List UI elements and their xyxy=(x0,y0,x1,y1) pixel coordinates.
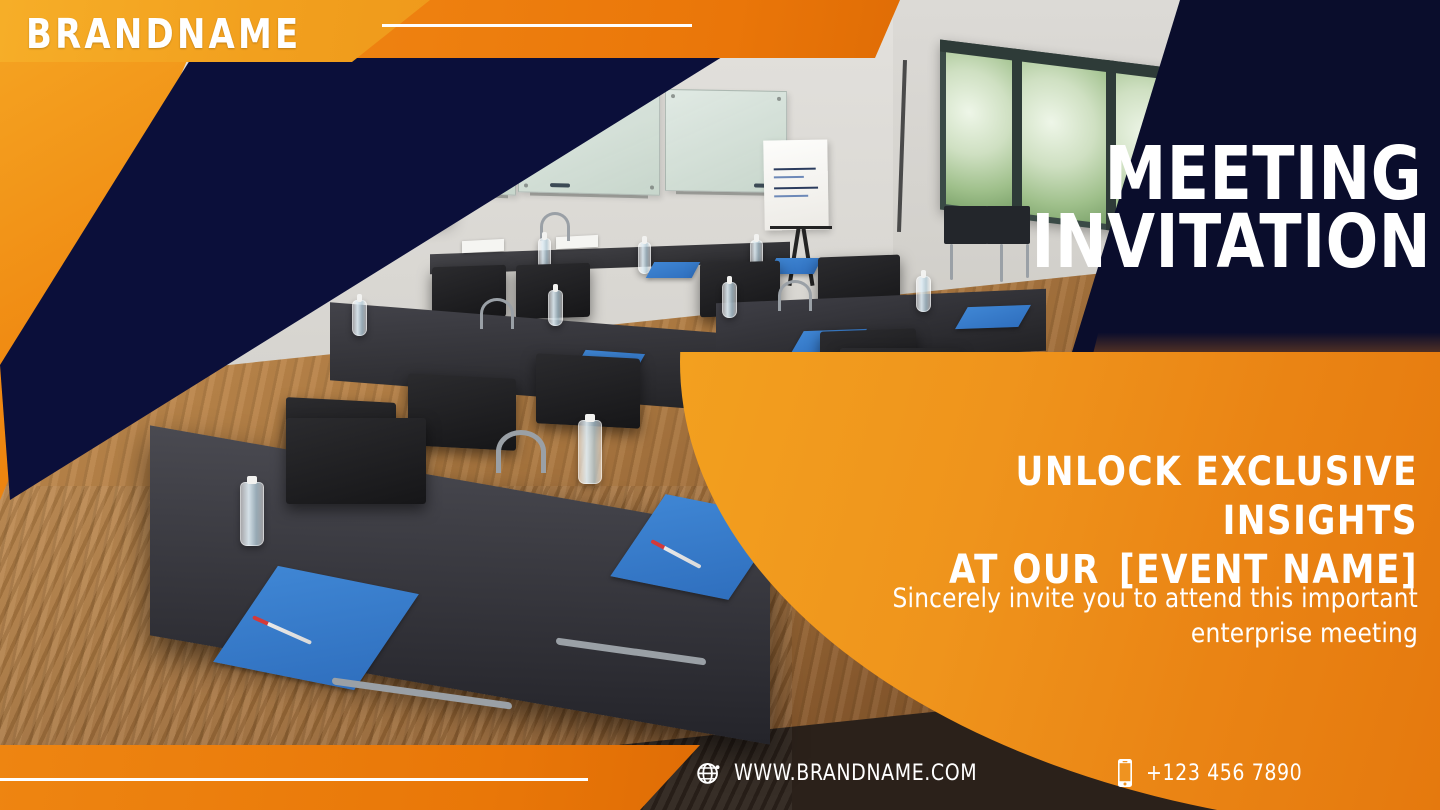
subtitle-line-1: Sincerely invite you to attend this impo… xyxy=(823,582,1418,617)
website-text: WWW.BRANDNAME.COM xyxy=(734,761,977,786)
stacked-chair-leg xyxy=(1026,244,1029,278)
stacked-chair-1 xyxy=(944,206,988,244)
phone-text: +123 456 7890 xyxy=(1146,761,1302,786)
page-title-line-2: INVITATION xyxy=(1031,208,1422,276)
contact-bar: WWW.BRANDNAME.COM +123 456 7890 xyxy=(695,748,1375,798)
chair-foreground xyxy=(286,418,426,504)
microphone-stand xyxy=(496,430,546,473)
water-bottle xyxy=(722,282,737,318)
water-bottle xyxy=(240,482,264,546)
stacked-chair-2 xyxy=(986,206,1030,244)
brand-name: BRANDNAME xyxy=(26,10,301,58)
page-title: MEETING INVITATION xyxy=(1031,140,1422,276)
microphone-stand xyxy=(778,280,812,311)
microphone-stand xyxy=(480,298,514,329)
headline: UNLOCK EXCLUSIVE INSIGHTS AT OUR[EVENT N… xyxy=(848,448,1418,594)
meeting-invitation-poster: BRANDNAME MEETING INVITATION UNLOCK EXCL… xyxy=(0,0,1440,810)
water-bottle xyxy=(548,290,563,326)
mobile-phone-icon xyxy=(1115,757,1135,789)
website-contact[interactable]: WWW.BRANDNAME.COM xyxy=(695,759,987,787)
water-bottle xyxy=(352,300,367,336)
stacked-chair-leg xyxy=(950,244,953,280)
subtitle-line-2: enterprise meeting xyxy=(823,617,1418,652)
phone-contact[interactable]: +123 456 7890 xyxy=(1115,757,1309,789)
bottom-divider-line xyxy=(0,778,588,781)
nameplate xyxy=(462,239,504,253)
page-title-line-1: MEETING xyxy=(1031,140,1422,208)
globe-icon xyxy=(695,759,723,787)
flipchart-board xyxy=(763,139,829,230)
blue-folder xyxy=(646,262,701,278)
stacked-chair-leg xyxy=(1000,244,1003,282)
water-bottle xyxy=(916,276,931,312)
easel-crossbar xyxy=(770,226,832,229)
headline-line-1: UNLOCK EXCLUSIVE INSIGHTS xyxy=(848,448,1418,546)
subtitle: Sincerely invite you to attend this impo… xyxy=(823,582,1418,651)
top-divider-line xyxy=(382,24,692,27)
water-bottle xyxy=(578,420,602,484)
